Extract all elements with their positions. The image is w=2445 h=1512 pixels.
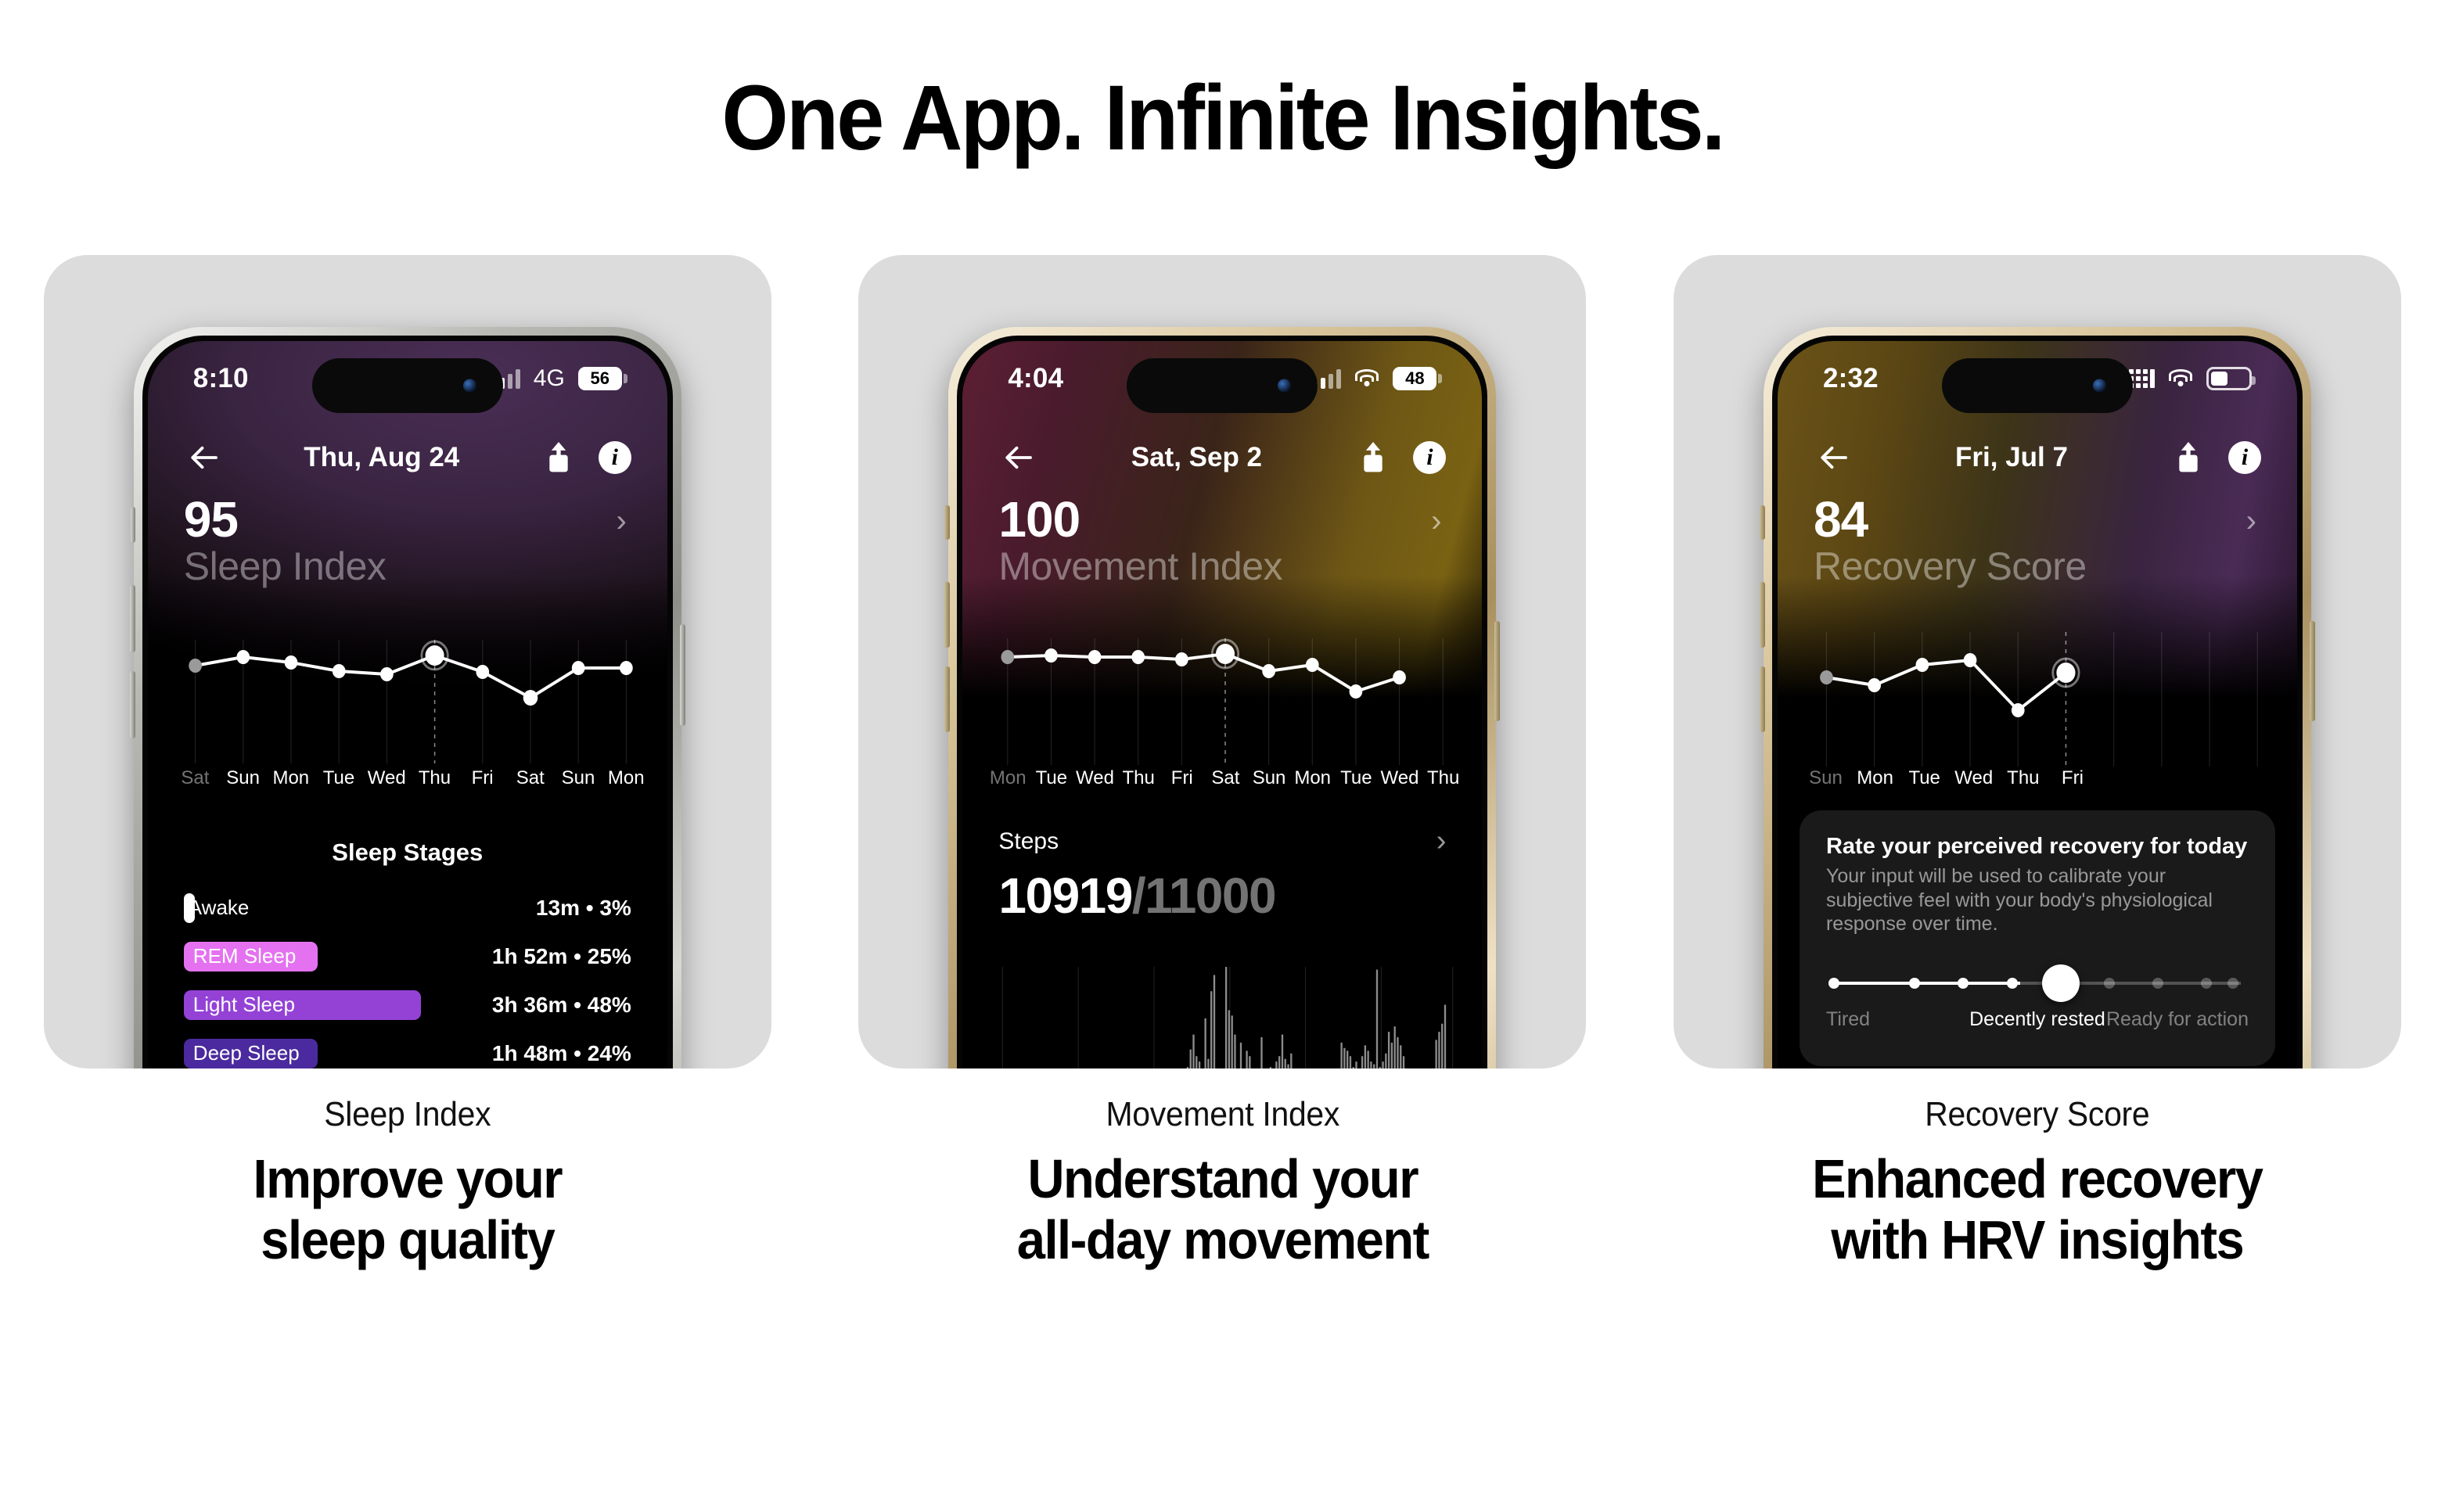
trend-label: Sat [506, 767, 554, 799]
trend-label: Wed [363, 767, 411, 799]
slider-label-mid: Decently rested [1969, 1008, 2105, 1031]
trend-label: Sun [1801, 767, 1850, 799]
trend-label: Tue [1335, 767, 1379, 799]
stage-name: Deep Sleep [184, 1039, 318, 1068]
dynamic-island [312, 358, 503, 413]
steps-goal: /11000 [1132, 867, 1275, 924]
phone-device-sleep: 8:10 4G 56 [134, 327, 681, 1068]
front-camera-icon [1278, 379, 1291, 393]
stage-row: Awake 13m • 3% [184, 889, 631, 927]
sleep-trend-labels: Sat Sun Mon Tue Wed Thu Fri Sat Sun Mon [171, 767, 650, 799]
stage-name: REM Sleep [184, 942, 318, 971]
phone-device-recovery: 2:32 [1764, 327, 2311, 1068]
caption-subtitle: Movement Index [843, 1095, 1602, 1134]
phone-screen-movement: 4:04 48 [962, 341, 1482, 1068]
info-icon[interactable]: i [1413, 441, 1446, 474]
slider-label-low: Tired [1826, 1008, 1870, 1031]
chevron-right-icon[interactable]: › [616, 504, 626, 539]
back-button[interactable] [184, 436, 226, 479]
feature-columns: 8:10 4G 56 [0, 255, 2445, 1271]
stage-value: 3h 36m • 48% [492, 993, 631, 1018]
trend-label: Sat [1204, 767, 1248, 799]
caption-subtitle: Recovery Score [1659, 1095, 2417, 1134]
sleep-stages-list: Awake 13m • 3% REM Sleep 1h 52m • 25% Li… [184, 889, 631, 1068]
score-block[interactable]: 100 Movement Index › [998, 494, 1446, 588]
phone-card-sleep: 8:10 4G 56 [44, 255, 771, 1068]
caption-title: Enhanced recovery with HRV insights [1659, 1148, 2417, 1271]
status-clock: 4:04 [1008, 363, 1063, 394]
slider-dot[interactable] [2152, 978, 2163, 989]
sleep-trend-chart[interactable] [171, 616, 650, 773]
trend-label: Sun [554, 767, 602, 799]
trend-label: Tue [1900, 767, 1949, 799]
info-icon[interactable]: i [2228, 441, 2261, 474]
trend-label: Mon [602, 767, 650, 799]
score-block[interactable]: 84 Recovery Score › [1814, 494, 2261, 588]
caption-title-line: Improve your [28, 1148, 786, 1209]
score-label: Sleep Index [184, 544, 631, 588]
slider-dot[interactable] [1958, 978, 1969, 989]
slider-dot[interactable] [2007, 978, 2018, 989]
stage-value: 1h 52m • 25% [492, 944, 631, 969]
trend-label: Fri [458, 767, 506, 799]
movement-trend-chart[interactable] [986, 616, 1465, 773]
slider-fill [1834, 982, 2020, 985]
caption-title: Improve your sleep quality [28, 1148, 786, 1271]
feature-column-movement: 4:04 48 [815, 255, 1631, 1271]
steps-value-block: 10919/11000 [998, 867, 1275, 925]
caption-title-line: Understand your [843, 1148, 1602, 1209]
trend-label: Thu [1422, 767, 1465, 799]
share-icon[interactable] [1352, 436, 1394, 479]
score-value: 84 [1814, 494, 2261, 544]
steps-value: 10919 [998, 867, 1131, 924]
caption-title-line: all-day movement [843, 1209, 1602, 1270]
slider-dot[interactable] [2227, 978, 2238, 989]
recovery-rating-subtitle: Your input will be used to calibrate you… [1826, 864, 2249, 936]
nav-title: Sat, Sep 2 [1041, 442, 1352, 473]
stage-row: Light Sleep 3h 36m • 48% [184, 986, 631, 1024]
back-button[interactable] [1814, 436, 1856, 479]
sleep-stages-title: Sleep Stages [148, 839, 667, 867]
trend-label: Wed [1949, 767, 1998, 799]
stage-value: 13m • 3% [536, 896, 631, 921]
share-icon[interactable] [2167, 436, 2209, 479]
front-camera-icon [2093, 379, 2106, 393]
steps-header[interactable]: Steps › [998, 824, 1446, 858]
battery-icon [2206, 367, 2252, 390]
slider-thumb[interactable] [2042, 964, 2080, 1002]
status-clock: 2:32 [1823, 363, 1879, 394]
trend-label: Wed [1073, 767, 1117, 799]
battery-icon: 48 [1393, 367, 1436, 390]
trend-label: Mon [267, 767, 315, 799]
phone-screen-recovery: 2:32 [1778, 341, 2297, 1068]
phone-card-recovery: 2:32 [1674, 255, 2401, 1068]
recovery-trend-labels: Sun Mon Tue Wed Thu Fri [1801, 767, 2097, 799]
trend-label: Mon [1850, 767, 1900, 799]
page-headline: One App. Infinite Insights. [85, 72, 2359, 164]
front-camera-icon [463, 379, 476, 393]
trend-label: Thu [1116, 767, 1160, 799]
recovery-rating-card[interactable]: Rate your perceived recovery for today Y… [1800, 810, 2275, 1066]
caption-title: Understand your all-day movement [843, 1148, 1602, 1271]
battery-icon: 56 [578, 367, 622, 390]
chevron-right-icon[interactable]: › [2246, 504, 2256, 539]
chevron-right-icon[interactable]: › [1436, 824, 1447, 858]
phone-device-movement: 4:04 48 [948, 327, 1496, 1068]
slider-labels: Tired Decently rested Ready for action [1826, 1008, 2249, 1035]
score-value: 100 [998, 494, 1446, 544]
status-clock: 8:10 [193, 363, 249, 394]
share-icon[interactable] [538, 436, 580, 479]
score-block[interactable]: 95 Sleep Index › [184, 494, 631, 588]
score-label: Movement Index [998, 544, 1446, 588]
slider-dot[interactable] [1909, 978, 1920, 989]
trend-label: Sun [219, 767, 267, 799]
info-icon[interactable]: i [599, 441, 631, 474]
caption-subtitle: Sleep Index [28, 1095, 786, 1134]
recovery-rating-title: Rate your perceived recovery for today [1826, 834, 2249, 860]
recovery-slider[interactable] [1826, 960, 2249, 1007]
stage-row: Deep Sleep 1h 48m • 24% [184, 1034, 631, 1068]
stage-name: Light Sleep [184, 990, 421, 1020]
nav-bar: Sat, Sep 2 i [962, 427, 1482, 488]
stage-value: 1h 48m • 24% [492, 1041, 631, 1066]
stage-row: REM Sleep 1h 52m • 25% [184, 937, 631, 975]
chevron-right-icon[interactable]: › [1431, 504, 1441, 539]
trend-label: Wed [1378, 767, 1422, 799]
caption-sleep: Sleep Index Improve your sleep quality [0, 1095, 815, 1271]
dynamic-island [1127, 358, 1318, 413]
movement-trend-labels: Mon Tue Wed Thu Fri Sat Sun Mon Tue Wed [986, 767, 1465, 799]
trend-label: Tue [1030, 767, 1073, 799]
network-label: 4G [534, 365, 565, 392]
score-label: Recovery Score [1814, 544, 2261, 588]
caption-movement: Movement Index Understand your all-day m… [815, 1095, 1631, 1271]
trend-label: Fri [2048, 767, 2097, 799]
recovery-trend-chart[interactable] [1801, 616, 2280, 773]
marketing-page: One App. Infinite Insights. 8:10 [0, 0, 2445, 1512]
nav-bar: Thu, Aug 24 i [148, 427, 667, 488]
slider-dot[interactable] [2201, 978, 2212, 989]
back-button[interactable] [998, 436, 1041, 479]
score-value: 95 [184, 494, 631, 544]
steps-label: Steps [998, 828, 1059, 855]
caption-title-line: with HRV insights [1659, 1209, 2417, 1270]
nav-title: Thu, Aug 24 [226, 442, 538, 473]
slider-dot[interactable] [2104, 978, 2115, 989]
steps-bar-chart[interactable] [997, 959, 1458, 1068]
trend-label: Fri [1160, 767, 1204, 799]
dynamic-island [1942, 358, 2133, 413]
caption-title-line: sleep quality [28, 1209, 786, 1270]
trend-label: Tue [315, 767, 362, 799]
stage-name: Awake [189, 896, 250, 920]
nav-bar: Fri, Jul 7 i [1778, 427, 2297, 488]
trend-label: Thu [411, 767, 458, 799]
phone-screen-sleep: 8:10 4G 56 [148, 341, 667, 1068]
trend-label: Sat [171, 767, 219, 799]
feature-column-recovery: 2:32 [1630, 255, 2445, 1271]
trend-label: Thu [1998, 767, 2048, 799]
wifi-icon [2168, 369, 2193, 388]
slider-label-high: Ready for action [2106, 1008, 2249, 1031]
caption-title-line: Enhanced recovery [1659, 1148, 2417, 1209]
phone-card-movement: 4:04 48 [858, 255, 1586, 1068]
slider-dot[interactable] [1828, 978, 1839, 989]
trend-label: Mon [1291, 767, 1335, 799]
trend-label: Mon [986, 767, 1030, 799]
wifi-icon [1354, 369, 1379, 388]
feature-column-sleep: 8:10 4G 56 [0, 255, 815, 1271]
caption-recovery: Recovery Score Enhanced recovery with HR… [1630, 1095, 2445, 1271]
nav-title: Fri, Jul 7 [1856, 442, 2167, 473]
trend-label: Sun [1247, 767, 1291, 799]
